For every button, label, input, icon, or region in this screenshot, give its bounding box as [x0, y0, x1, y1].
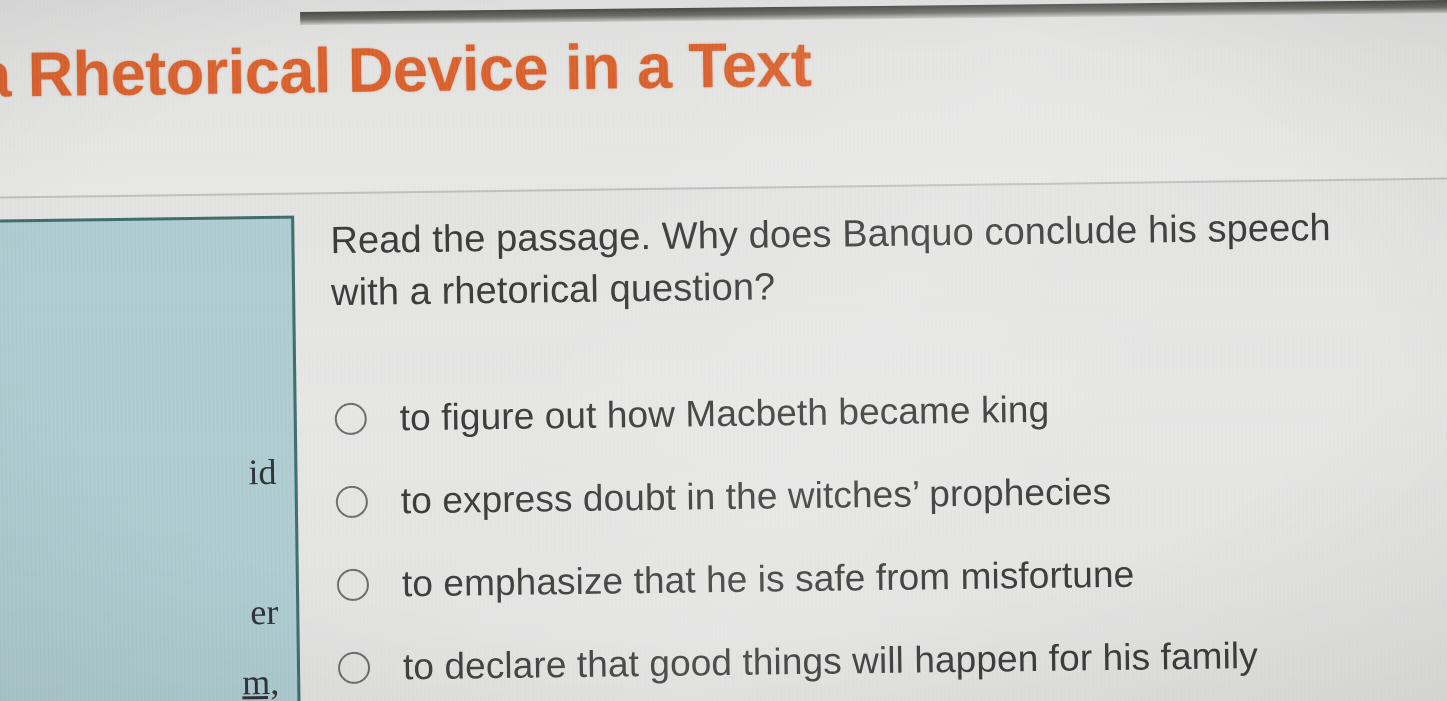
question-panel: Read the passage. Why does Banquo conclu… [330, 201, 1447, 701]
question-prompt: Read the passage. Why does Banquo conclu… [330, 202, 1366, 320]
radio-button-icon[interactable] [337, 569, 369, 601]
passage-text-fragment: id [248, 451, 277, 493]
radio-button-icon[interactable] [335, 403, 367, 435]
answer-option-1[interactable]: to figure out how Macbeth became king [332, 363, 1447, 461]
screen-photo: a Rhetorical Device in a Text id er m, R… [0, 0, 1447, 701]
answer-option-label: to express doubt in the witches’ prophec… [401, 471, 1112, 522]
answer-option-label: to emphasize that he is safe from misfor… [402, 554, 1135, 606]
answer-option-3[interactable]: to emphasize that he is safe from misfor… [334, 529, 1447, 627]
passage-text-fragment: er [250, 591, 279, 633]
answer-option-2[interactable]: to express doubt in the witches’ prophec… [333, 446, 1447, 544]
radio-button-icon[interactable] [336, 486, 368, 518]
answer-option-label: to declare that good things will happen … [403, 635, 1258, 688]
answer-options: to figure out how Macbeth became king to… [332, 363, 1447, 701]
lesson-header: a Rhetorical Device in a Text [0, 0, 1447, 198]
radio-button-icon[interactable] [338, 652, 370, 684]
passage-text-fragment: m, [242, 661, 280, 701]
answer-option-4[interactable]: to declare that good things will happen … [335, 612, 1447, 701]
passage-panel: id er m, [0, 216, 301, 701]
quiz-page: a Rhetorical Device in a Text id er m, R… [0, 0, 1447, 701]
answer-option-label: to figure out how Macbeth became king [399, 389, 1049, 439]
page-title: a Rhetorical Device in a Text [0, 29, 812, 112]
